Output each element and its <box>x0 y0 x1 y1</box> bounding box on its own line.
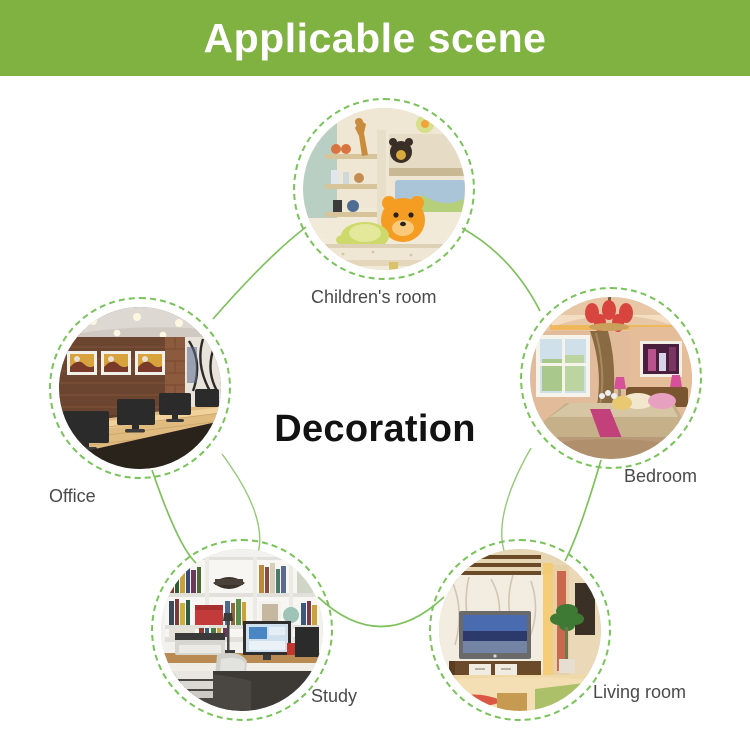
header-bar: Applicable scene <box>0 0 750 76</box>
living-room-photo <box>439 549 601 711</box>
scene-label-study: Study <box>311 687 357 705</box>
diagram-center-label: Decoration <box>0 410 750 448</box>
scene-node-study[interactable]: Study <box>151 539 333 721</box>
scene-diagram: Children's room <box>0 76 750 750</box>
scene-label-office: Office <box>49 487 96 505</box>
applicable-scene-page: Applicable scene <box>0 0 750 750</box>
page-title: Applicable scene <box>204 18 547 59</box>
scene-node-living-room[interactable]: Living room <box>429 539 611 721</box>
scene-label-children-room: Children's room <box>311 288 436 306</box>
scene-node-children-room[interactable]: Children's room <box>293 98 475 280</box>
scene-label-bedroom: Bedroom <box>624 467 697 485</box>
scene-node-office[interactable]: Office <box>49 297 231 479</box>
children-room-photo <box>303 108 465 270</box>
scene-label-living-room: Living room <box>593 683 686 701</box>
study-photo <box>161 549 323 711</box>
